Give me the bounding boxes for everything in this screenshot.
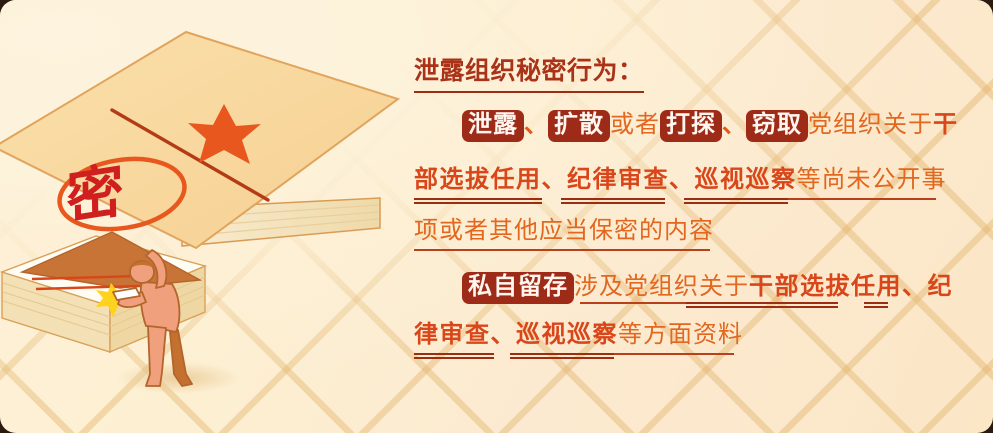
underline-line-3: [414, 249, 710, 251]
badge-qiequ[interactable]: 窃取: [746, 110, 808, 142]
badge-siziliucun[interactable]: 私自留存: [462, 272, 574, 304]
underline-lv-shencha: [414, 353, 494, 355]
term-lv-shencha: 律审查、: [414, 322, 516, 348]
conjunction-huozhe: 或者: [610, 112, 660, 138]
page-title: 泄露组织秘密行为：: [414, 58, 644, 93]
text-xiang-huozhe-qita: 项或者其他应当保密的内容: [414, 218, 714, 244]
text-ji: 纪: [928, 274, 954, 300]
underline-line-2-tail: [788, 198, 936, 200]
separator-2: 、: [722, 112, 746, 138]
badge-xielu[interactable]: 泄露: [462, 110, 524, 142]
term-ganbu-xuanba-renyong: 部选拔任用、: [414, 167, 567, 193]
underline-ji: [864, 302, 888, 304]
term-ganbu-xuanba-renyong-2: 干部选拔任用、: [749, 274, 928, 300]
text-gan: 干: [933, 112, 959, 138]
text-column: 泄露组织秘密行为： 泄露、扩散或者打探、窃取党组织关于干 部选拔任用、纪律审查、…: [404, 0, 993, 433]
paragraph-2-line-1: 私自留存涉及党组织关于干部选拔任用、纪: [462, 272, 953, 304]
badge-datan[interactable]: 打探: [660, 110, 722, 142]
paragraph-1-line-2: 部选拔任用、纪律审查、巡视巡察等尚未公开事: [414, 168, 947, 192]
paragraph-1-line-3: 项或者其他应当保密的内容: [414, 219, 714, 243]
underline-p2-line2-tail: [614, 353, 734, 355]
illustration: 密: [0, 0, 400, 433]
badge-kuosan[interactable]: 扩散: [548, 110, 610, 142]
underline-xunshi-xuncha-2: [510, 353, 614, 355]
term-xunshi-xuncha: 巡视巡察: [695, 167, 797, 193]
paragraph-2-line-2: 律审查、巡视巡察等方面资料: [414, 323, 743, 347]
poster-root: 密: [0, 0, 993, 433]
underline-jilv-shencha: [561, 198, 665, 200]
underline-ganbu-xuanba-renyong: [414, 198, 542, 200]
term-jilv-shencha: 纪律审查、: [567, 167, 695, 193]
term-xunshi-xuncha-2: 巡视巡察: [516, 322, 618, 348]
text-dangzuzhi: 党组织关于: [808, 112, 933, 138]
separator-1: 、: [524, 112, 548, 138]
underline-xunshi-xuncha: [684, 198, 788, 200]
text-deng-shangwei-gongkai-shi: 等尚未公开事: [797, 167, 947, 193]
svg-text:密: 密: [66, 158, 124, 232]
underline-ganbu-xuanba-renyong-2: [686, 302, 838, 304]
paragraph-1-line-1: 泄露、扩散或者打探、窃取党组织关于干: [462, 110, 959, 142]
text-deng-fangmian-ziliao: 等方面资料: [618, 322, 743, 348]
text-sheji-dangzuzhi: 涉及党组织关于: [574, 274, 749, 300]
underline-p2-line1-lead: [580, 302, 686, 304]
